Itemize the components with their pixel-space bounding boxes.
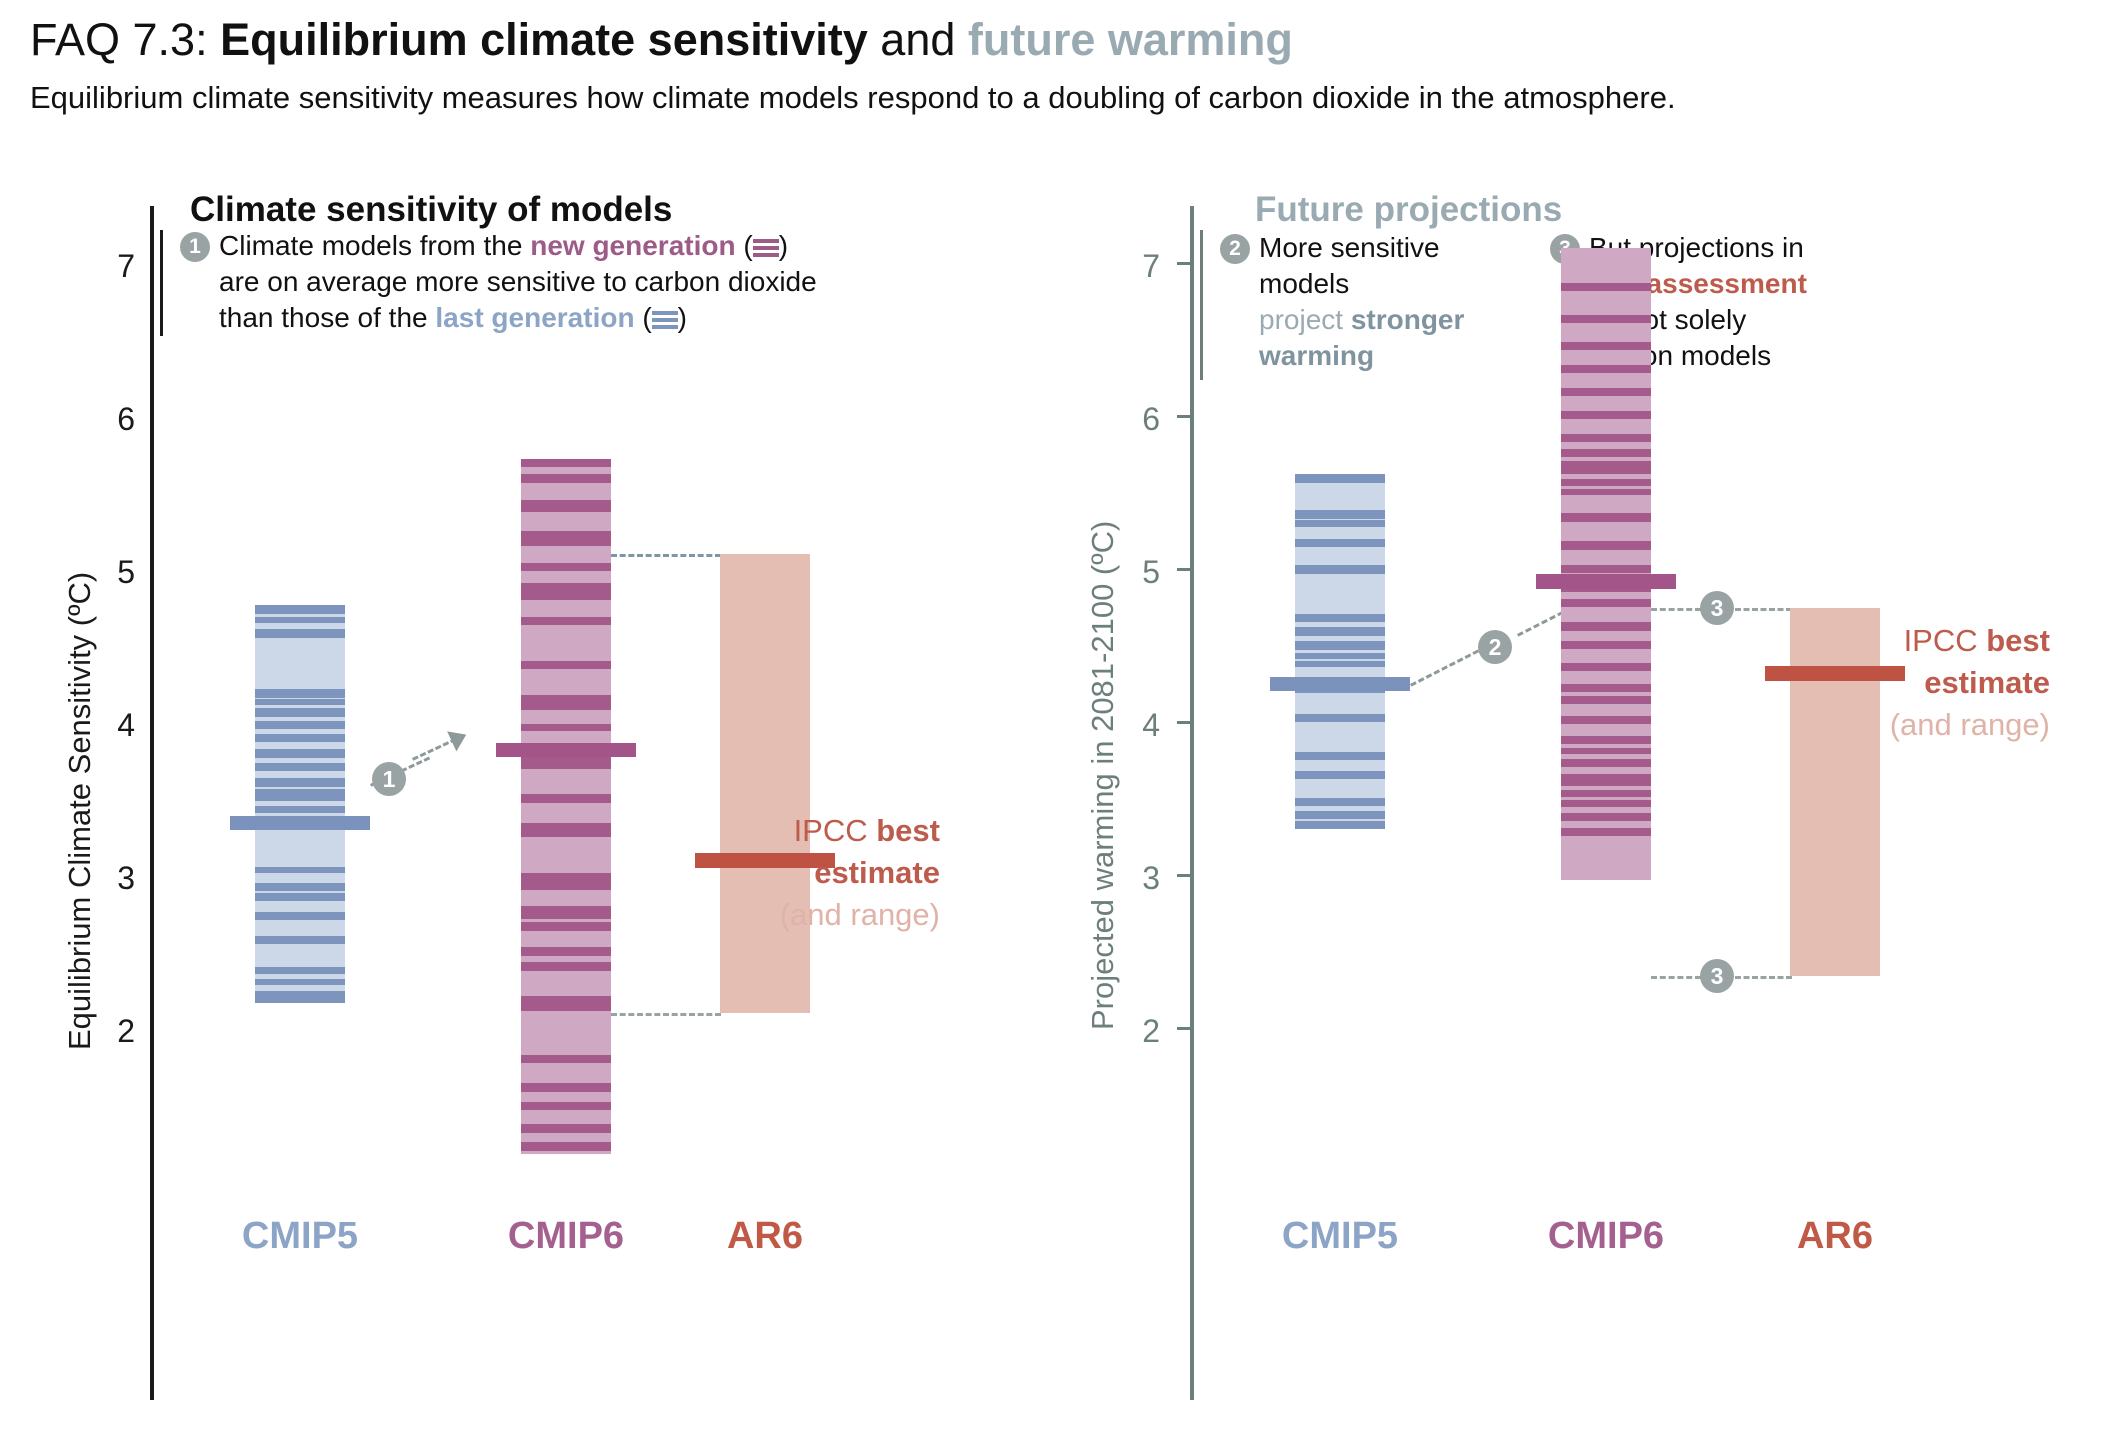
left-tick-6: 6 (75, 401, 135, 438)
xlabel-ar6-right: AR6 (1735, 1215, 1935, 1258)
bar-ar6-left (720, 554, 810, 1013)
right-tick-mark-6 (1177, 415, 1190, 418)
left-tick-7: 7 (75, 248, 135, 285)
leader-line-1b (412, 738, 457, 761)
last-generation-glyph-icon (652, 308, 678, 330)
annotation-2-line-4: warming (1259, 340, 1374, 371)
right-tick-mark-2 (1177, 1027, 1190, 1030)
left-annotation-1: 1Climate models from the new generation … (180, 228, 980, 336)
ar6-top-connector-right-b (1735, 608, 1792, 611)
annotation-2-line-1: More sensitive (1259, 232, 1440, 263)
ar6-bottom-connector-left (611, 1013, 721, 1016)
xlabel-ar6-left: AR6 (665, 1215, 865, 1258)
annotation-1-line3-paren-close: ) (678, 302, 687, 333)
right-tick-mark-3 (1177, 874, 1190, 877)
left-ipcc-callout: IPCC best estimate (and range) (520, 810, 940, 936)
new-generation-glyph-icon (753, 236, 779, 258)
annotation-2-line-3a: project (1259, 304, 1351, 335)
right-tick-mark-5 (1177, 568, 1190, 571)
best-estimate-cmip5-left (230, 816, 370, 830)
leader-line-2 (1410, 649, 1479, 686)
annotation-1-text-a: Climate models from the (219, 230, 530, 261)
left-callout-range: (and range) (520, 894, 940, 936)
left-panel-title: Climate sensitivity of models (190, 190, 672, 230)
right-tick-mark-7 (1177, 262, 1190, 265)
ar6-bottom-connector-right-b (1735, 976, 1792, 979)
right-ipcc-callout: IPCC best estimate (and range) (1600, 620, 2050, 746)
annotation-1-paren-close: ) (779, 230, 788, 261)
best-estimate-cmip5-right (1270, 677, 1410, 691)
annotation-badge-1: 1 (180, 232, 210, 262)
best-estimate-cmip6-right (1536, 574, 1676, 589)
title-bold-2: future warming (968, 14, 1293, 65)
right-annotation-rule (1200, 230, 1203, 380)
xlabel-cmip5-right: CMIP5 (1240, 1215, 1440, 1258)
right-callout-estimate: estimate (1600, 662, 2050, 704)
annotation-2-line-2: models (1220, 266, 1540, 302)
right-callout-best: best (1986, 623, 2050, 658)
title-and: and (868, 14, 968, 65)
leader-badge-2: 2 (1478, 630, 1512, 664)
annotation-2-line-3b: stronger (1351, 304, 1465, 335)
leader-badge-1: 1 (372, 762, 406, 796)
title-prefix: FAQ 7.3: (30, 14, 220, 65)
right-y-axis (1190, 206, 1194, 1400)
right-panel-title: Future projections (1255, 190, 1562, 230)
right-callout-ipcc: IPCC (1904, 623, 1987, 658)
leader-badge-3-bottom: 3 (1700, 959, 1734, 993)
left-annotation-rule (160, 230, 163, 336)
xlabel-cmip6-right: CMIP6 (1506, 1215, 1706, 1258)
right-axis-title: Projected warming in 2081-2100 (ºC) (1085, 521, 1121, 1030)
right-tick-mark-4 (1177, 721, 1190, 724)
left-callout-ipcc: IPCC (794, 813, 877, 848)
left-panel: Climate sensitivity of models 7 6 5 4 3 … (40, 190, 1060, 1420)
page-title: FAQ 7.3: Equilibrium climate sensitivity… (30, 10, 2090, 70)
left-axis-title: Equilibrium Climate Sensitivity (ºC) (62, 572, 98, 1050)
annotation-1-line3-a: than those of the (219, 302, 435, 333)
right-panel: Future projections 7 6 5 4 3 2 Projected… (1080, 190, 2100, 1420)
header: FAQ 7.3: Equilibrium climate sensitivity… (30, 10, 2090, 120)
left-callout-estimate: estimate (520, 852, 940, 894)
annotation-1-new-generation: new generation (530, 230, 735, 261)
annotation-1-line-2: are on average more sensitive to carbon … (180, 264, 980, 300)
annotation-1-line3-paren-open: ( (635, 302, 652, 333)
ar6-top-connector-right (1651, 608, 1701, 611)
right-tick-7: 7 (1100, 248, 1160, 285)
right-tick-6: 6 (1100, 401, 1160, 438)
title-bold-1: Equilibrium climate sensitivity (220, 14, 868, 65)
leader-arrow-1 (447, 725, 471, 752)
annotation-badge-2: 2 (1220, 234, 1250, 264)
ar6-bottom-connector-right (1651, 976, 1701, 979)
ar6-top-connector-left (611, 554, 721, 557)
left-callout-best: best (876, 813, 940, 848)
right-callout-range: (and range) (1600, 704, 2050, 746)
best-estimate-cmip6-left (496, 743, 636, 757)
right-annotation-2: 2More sensitive models project stronger … (1220, 230, 1540, 374)
left-y-axis (150, 206, 154, 1400)
annotation-1-last-generation: last generation (435, 302, 634, 333)
xlabel-cmip6-left: CMIP6 (466, 1215, 666, 1258)
annotation-1-paren-open: ( (736, 230, 753, 261)
page-subtitle: Equilibrium climate sensitivity measures… (30, 76, 2090, 120)
xlabel-cmip5-left: CMIP5 (200, 1215, 400, 1258)
